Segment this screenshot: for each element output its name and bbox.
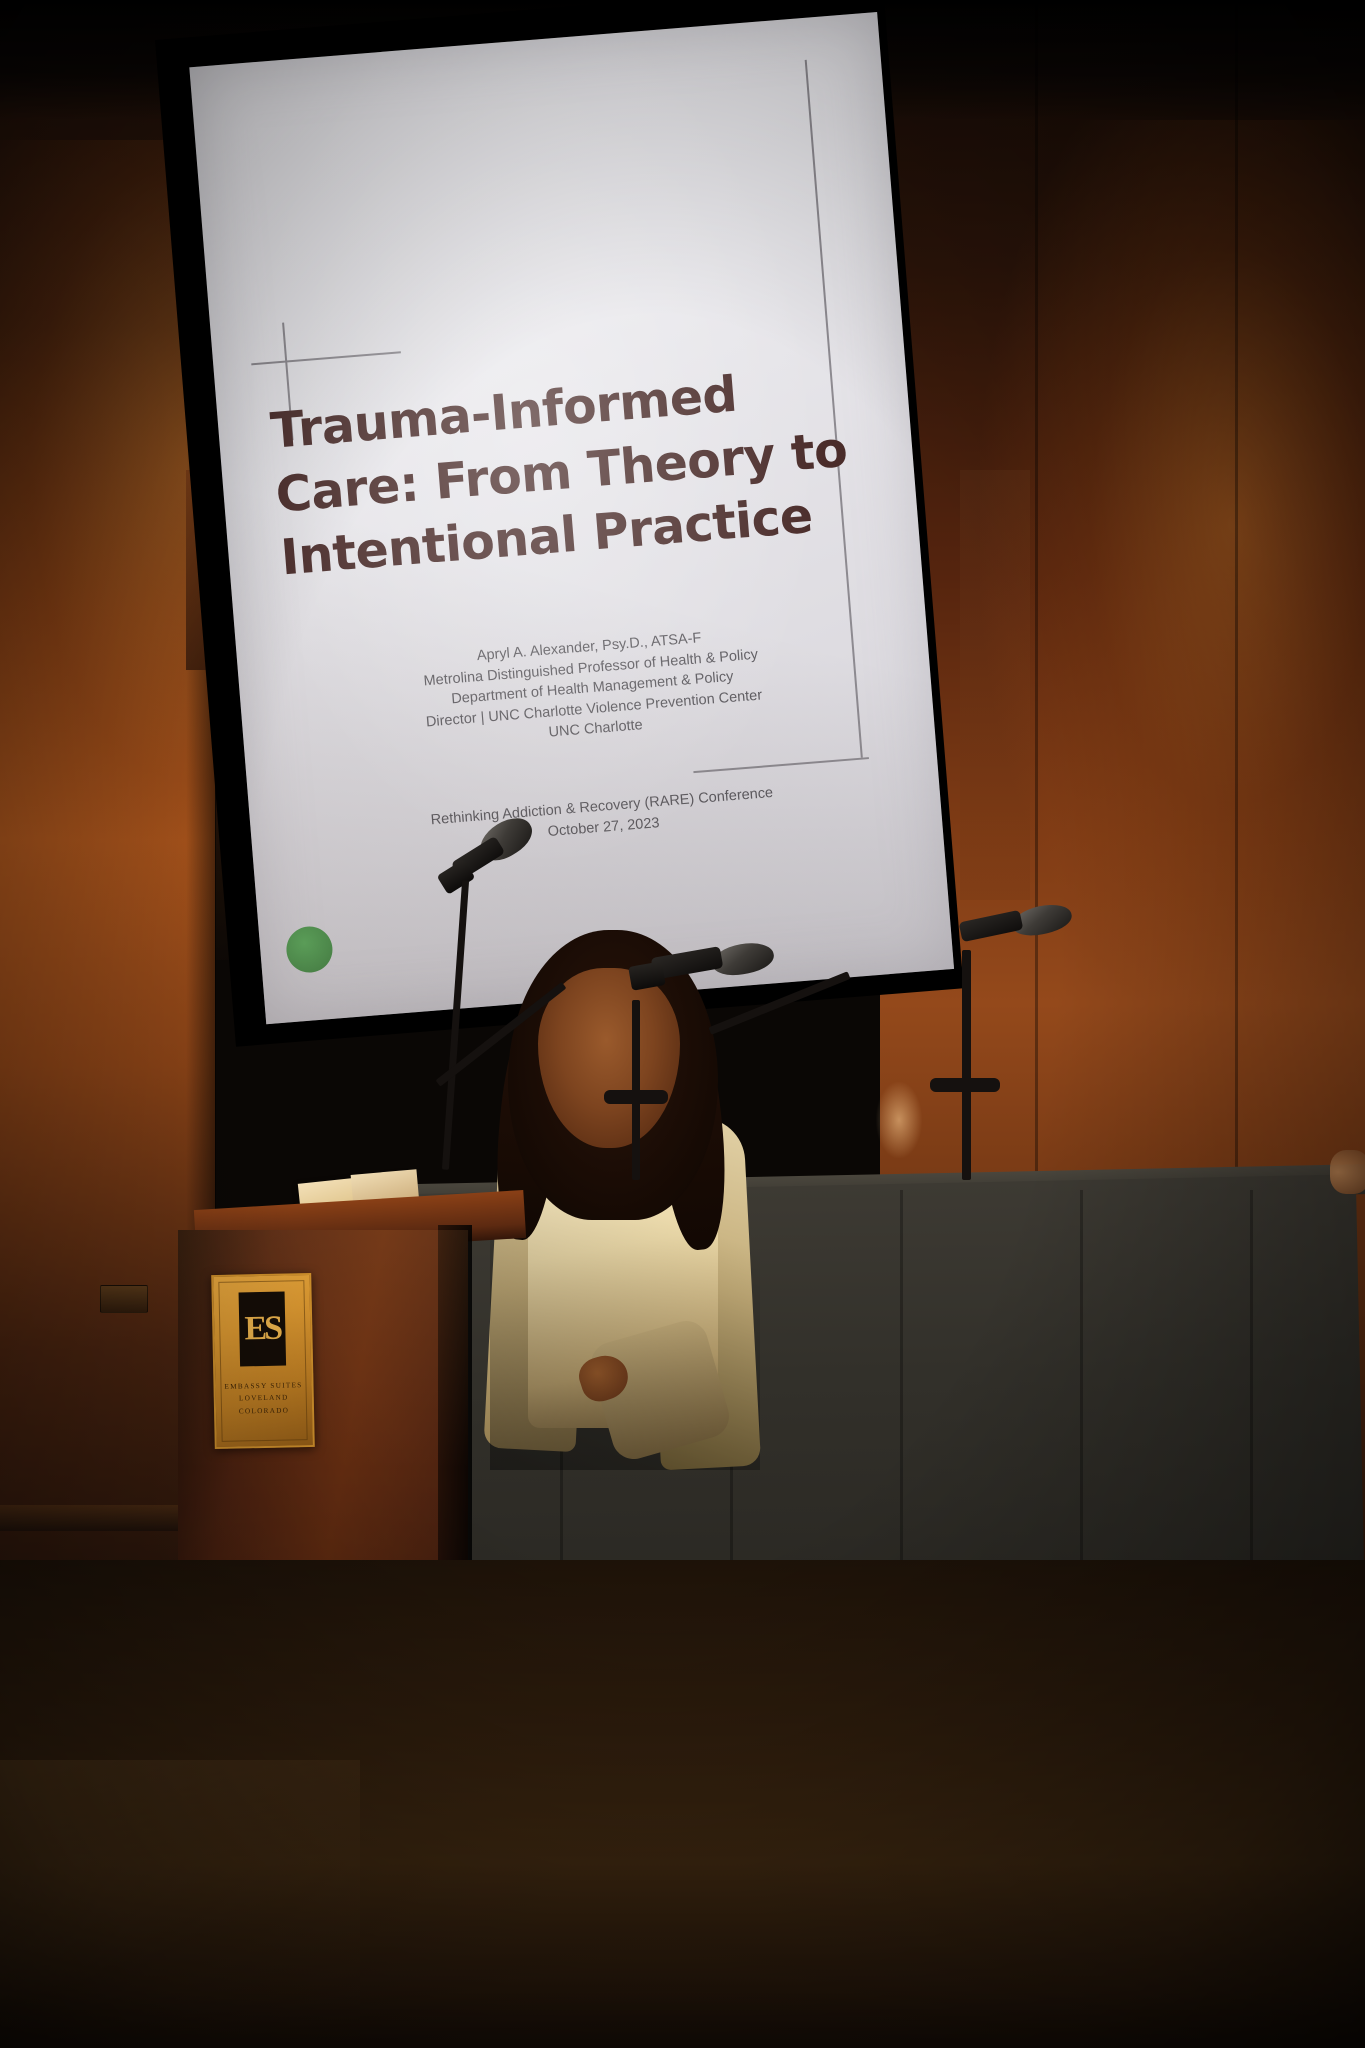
photo-scene: Trauma-Informed Care: From Theory to Int… (0, 0, 1365, 2048)
plaque-monogram-text: ES (244, 1312, 280, 1347)
carpet-highlight (0, 1760, 360, 2048)
plaque-inscription: EMBASSY SUITES LOVELAND COLORADO (215, 1379, 312, 1418)
boom-microphone-base-center (604, 1090, 668, 1104)
wall-trim-panel (960, 470, 1030, 900)
boom-microphone-base-right (930, 1078, 1000, 1092)
projected-slide: Trauma-Informed Care: From Theory to Int… (189, 12, 954, 1024)
venue-plaque: ES EMBASSY SUITES LOVELAND COLORADO (211, 1273, 315, 1449)
projection-screen: Trauma-Informed Care: From Theory to Int… (155, 0, 954, 1057)
wall-seam (1235, 0, 1238, 1190)
wall-outlet (100, 1285, 148, 1313)
plaque-monogram: ES (239, 1292, 287, 1367)
boom-microphone-pole-right (962, 950, 971, 1180)
plaque-line-3: COLORADO (216, 1404, 312, 1418)
wall-seam (1035, 0, 1038, 1190)
screen-light-falloff (189, 12, 954, 1024)
audience-hand-edge (1330, 1150, 1365, 1194)
stage-light-glow (876, 1082, 922, 1158)
plaque-line-1: EMBASSY SUITES (215, 1379, 311, 1393)
